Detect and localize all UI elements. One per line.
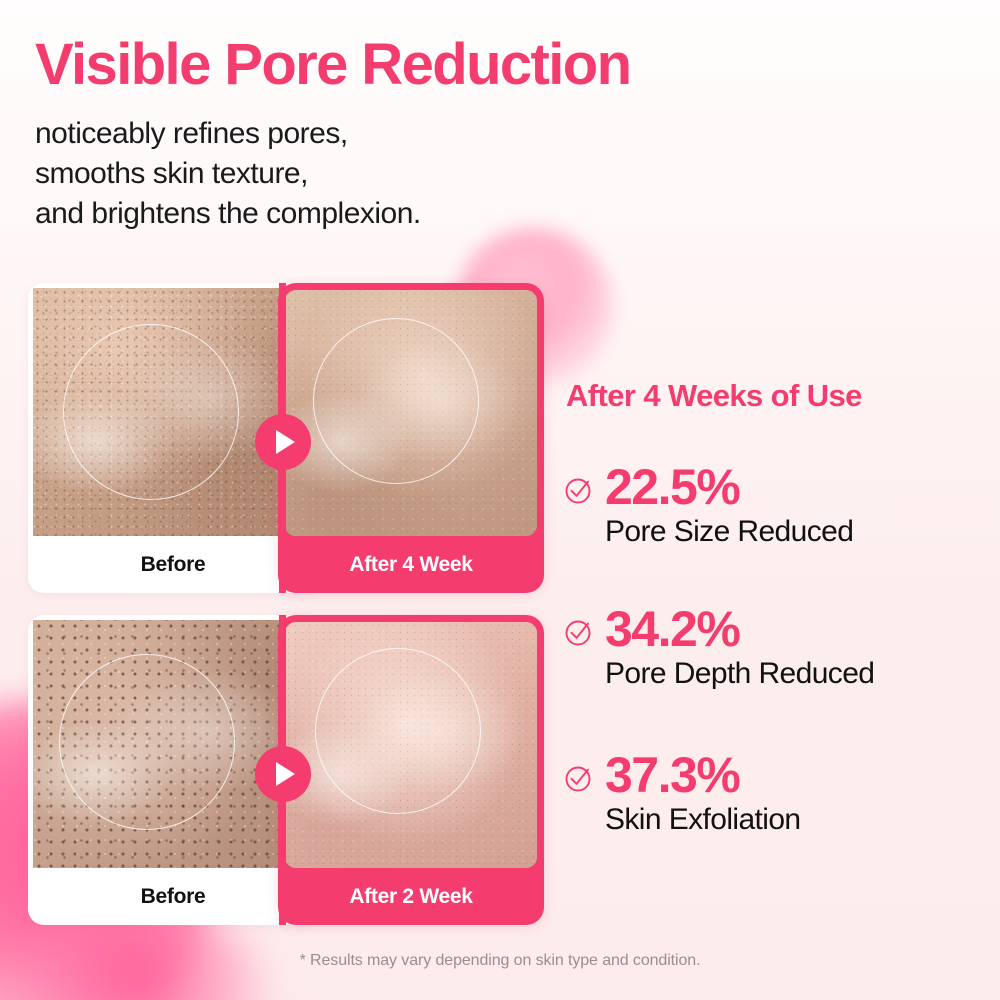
play-triangle <box>276 430 295 454</box>
comparison-card: Before After 2 Week <box>28 615 520 925</box>
page-subtitle: noticeably refines pores, smooths skin t… <box>35 114 421 234</box>
after-label: After 4 Week <box>278 536 544 593</box>
play-icon[interactable] <box>255 746 311 802</box>
stat-value: 34.2% <box>605 604 874 655</box>
play-icon[interactable] <box>255 414 311 470</box>
play-triangle <box>276 762 295 786</box>
infographic-page: Visible Pore Reduction noticeably refine… <box>0 0 1000 1000</box>
before-skin-photo <box>33 620 318 868</box>
stat-body: 37.3% Skin Exfoliation <box>605 750 801 838</box>
pore-zone-circle <box>63 324 239 500</box>
comparison-card: Before After 4 Week <box>28 283 520 593</box>
stat-item: 22.5% Pore Size Reduced <box>563 462 853 550</box>
stat-value: 22.5% <box>605 462 853 513</box>
after-skin-photo <box>285 622 537 868</box>
subtitle-line-3: and brightens the complexion. <box>35 194 421 234</box>
stat-value: 37.3% <box>605 750 801 801</box>
stat-body: 34.2% Pore Depth Reduced <box>605 604 874 692</box>
page-title: Visible Pore Reduction <box>35 36 630 94</box>
stat-item: 37.3% Skin Exfoliation <box>563 750 801 838</box>
subtitle-line-2: smooths skin texture, <box>35 154 421 194</box>
before-label: Before <box>28 868 318 925</box>
pore-zone-circle <box>313 318 479 484</box>
stat-body: 22.5% Pore Size Reduced <box>605 462 853 550</box>
check-circle-icon <box>563 616 595 648</box>
stat-label: Pore Depth Reduced <box>605 657 874 692</box>
before-label: Before <box>28 536 318 593</box>
stat-item: 34.2% Pore Depth Reduced <box>563 604 874 692</box>
stat-label: Skin Exfoliation <box>605 803 801 838</box>
after-skin-photo <box>285 290 537 536</box>
stat-label: Pore Size Reduced <box>605 515 853 550</box>
after-label: After 2 Week <box>278 868 544 925</box>
subtitle-line-1: noticeably refines pores, <box>35 114 421 154</box>
after-panel: After 2 Week <box>278 615 544 925</box>
after-panel: After 4 Week <box>278 283 544 593</box>
results-heading: After 4 Weeks of Use <box>566 378 862 414</box>
check-circle-icon <box>563 762 595 794</box>
pore-zone-circle <box>59 654 235 830</box>
check-circle-icon <box>563 474 595 506</box>
before-skin-photo <box>33 288 318 536</box>
pore-zone-circle <box>315 648 481 814</box>
disclaimer-text: * Results may vary depending on skin typ… <box>0 952 1000 970</box>
